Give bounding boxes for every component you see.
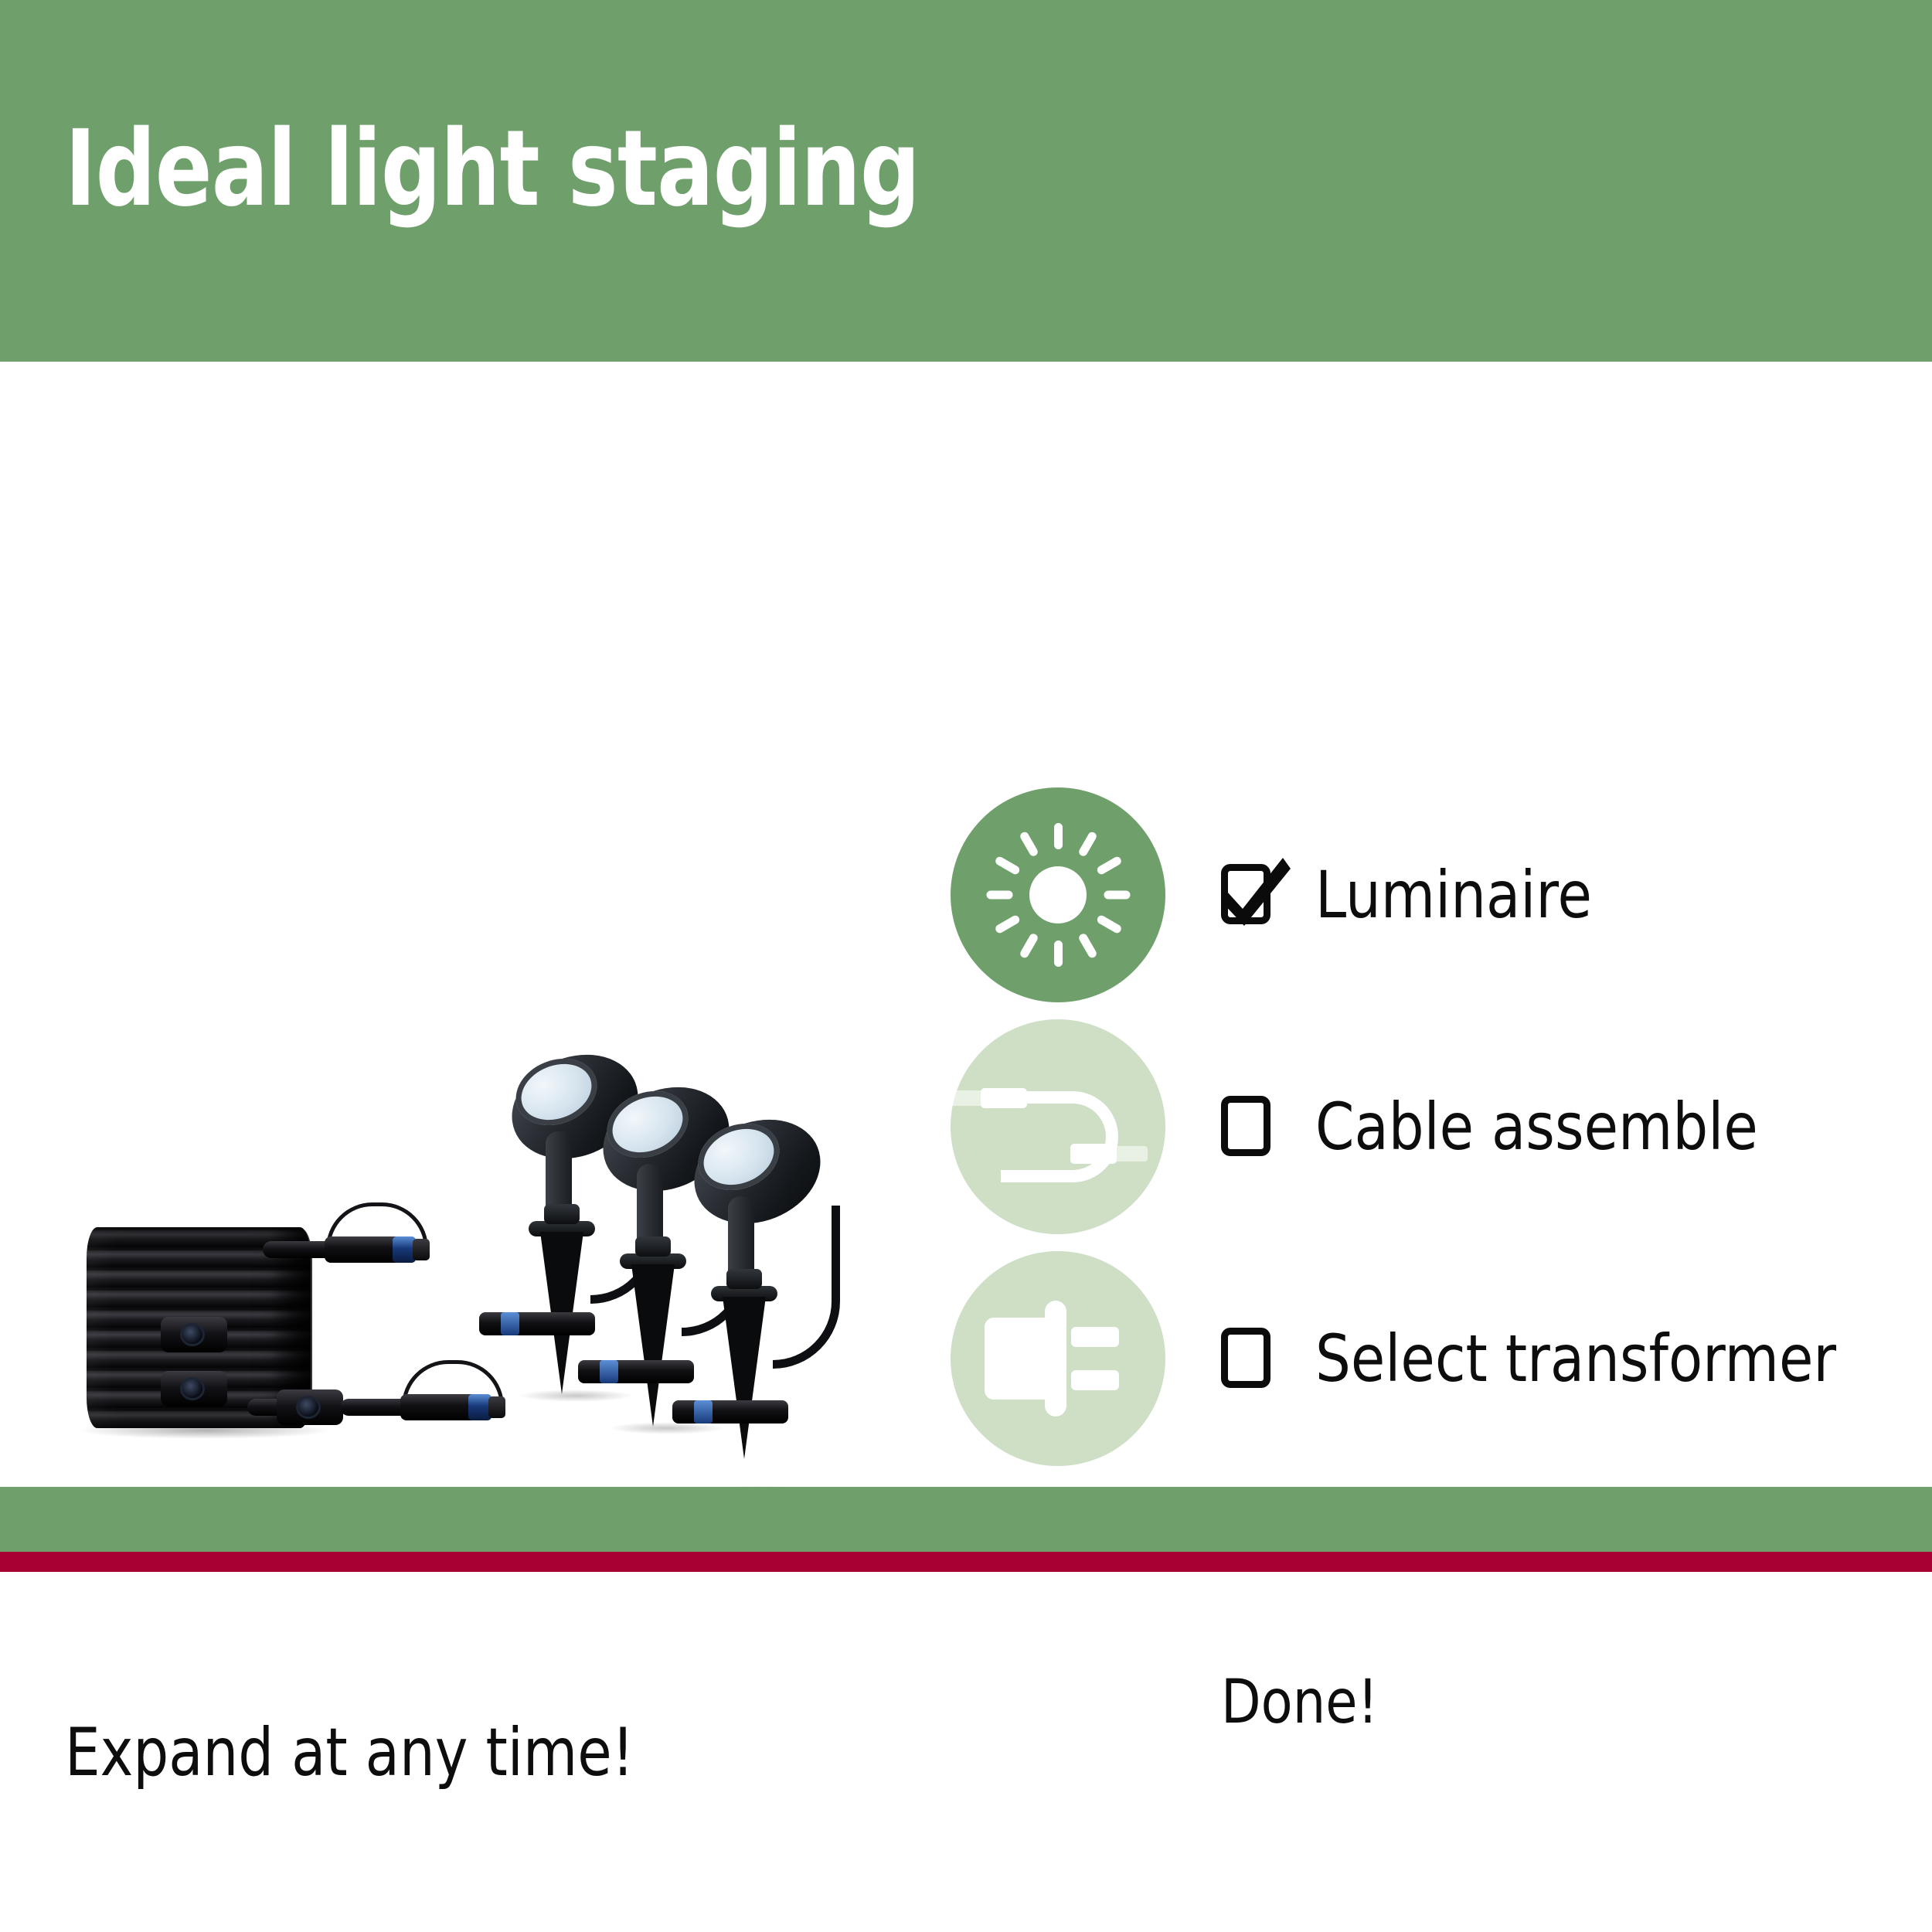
checkbox-box [1221, 1096, 1270, 1156]
plug-flange [1045, 1301, 1066, 1417]
plug-icon [985, 1301, 1131, 1417]
spotlight-cord [773, 1206, 840, 1369]
sun-core [1029, 866, 1087, 923]
transformer-checkbox[interactable] [1221, 1320, 1292, 1397]
spotlight-connector [672, 1400, 788, 1423]
luminaire-badge [951, 787, 1165, 1002]
footer-note: Expand at any time! [65, 1714, 634, 1791]
cable-plug-end-b [1070, 1144, 1117, 1164]
luminaire-label: Luminaire [1315, 857, 1592, 933]
footer-red-bar [0, 1552, 1932, 1572]
cable-coil-image [70, 1227, 471, 1459]
spotlight-knob [726, 1269, 762, 1289]
cable-label: Cable assemble [1315, 1089, 1758, 1165]
header-band: Ideal light staging [0, 0, 1932, 362]
cable-curve [1001, 1091, 1118, 1182]
spotlight-connector [479, 1312, 595, 1335]
page-title: Ideal light staging [65, 114, 920, 225]
luminaire-checkbox[interactable] [1221, 856, 1292, 934]
spotlight-connector [578, 1360, 694, 1383]
transformer-badge [951, 1251, 1165, 1466]
product-image [31, 733, 935, 1560]
spotlight-set-image [510, 1057, 912, 1536]
coil-inline-tee-1 [161, 1317, 227, 1352]
checkmark-icon [1223, 856, 1291, 927]
checkbox-box [1221, 1328, 1270, 1388]
done-text: Done! [1221, 1668, 1378, 1737]
connector-blue-ring [501, 1312, 519, 1335]
checklist: Luminaire Cable assemble [951, 779, 1909, 1475]
connector-blue-ring [600, 1360, 618, 1383]
checklist-row-luminaire[interactable]: Luminaire [951, 779, 1909, 1011]
spotlight-spike [631, 1264, 675, 1427]
spotlight-knob [544, 1204, 580, 1224]
footer-green-bar [0, 1487, 1932, 1552]
cable-checkbox[interactable] [1221, 1088, 1292, 1165]
plug-pin-bottom [1071, 1370, 1119, 1390]
coil-lower-tee [277, 1389, 343, 1425]
connector-tip [413, 1239, 430, 1260]
coil-inline-tee-2 [161, 1371, 227, 1406]
connector-blue-ring [694, 1400, 713, 1423]
cable-badge [951, 1019, 1165, 1234]
main-content: Luminaire Cable assemble [0, 362, 1932, 1552]
spotlight-spike [723, 1297, 766, 1459]
ground-shadow [609, 1422, 725, 1434]
sun-icon [985, 821, 1131, 968]
spotlight-knob [635, 1236, 671, 1257]
transformer-label: Select transformer [1315, 1321, 1836, 1396]
cable-icon [981, 1080, 1135, 1173]
plug-pin-top [1071, 1327, 1119, 1347]
checklist-row-transformer[interactable]: Select transformer [951, 1243, 1909, 1475]
checklist-row-cable[interactable]: Cable assemble [951, 1011, 1909, 1243]
connector-tip [488, 1396, 505, 1418]
cable-plug-end-b-outer [1112, 1146, 1148, 1162]
ground-shadow [518, 1389, 634, 1402]
